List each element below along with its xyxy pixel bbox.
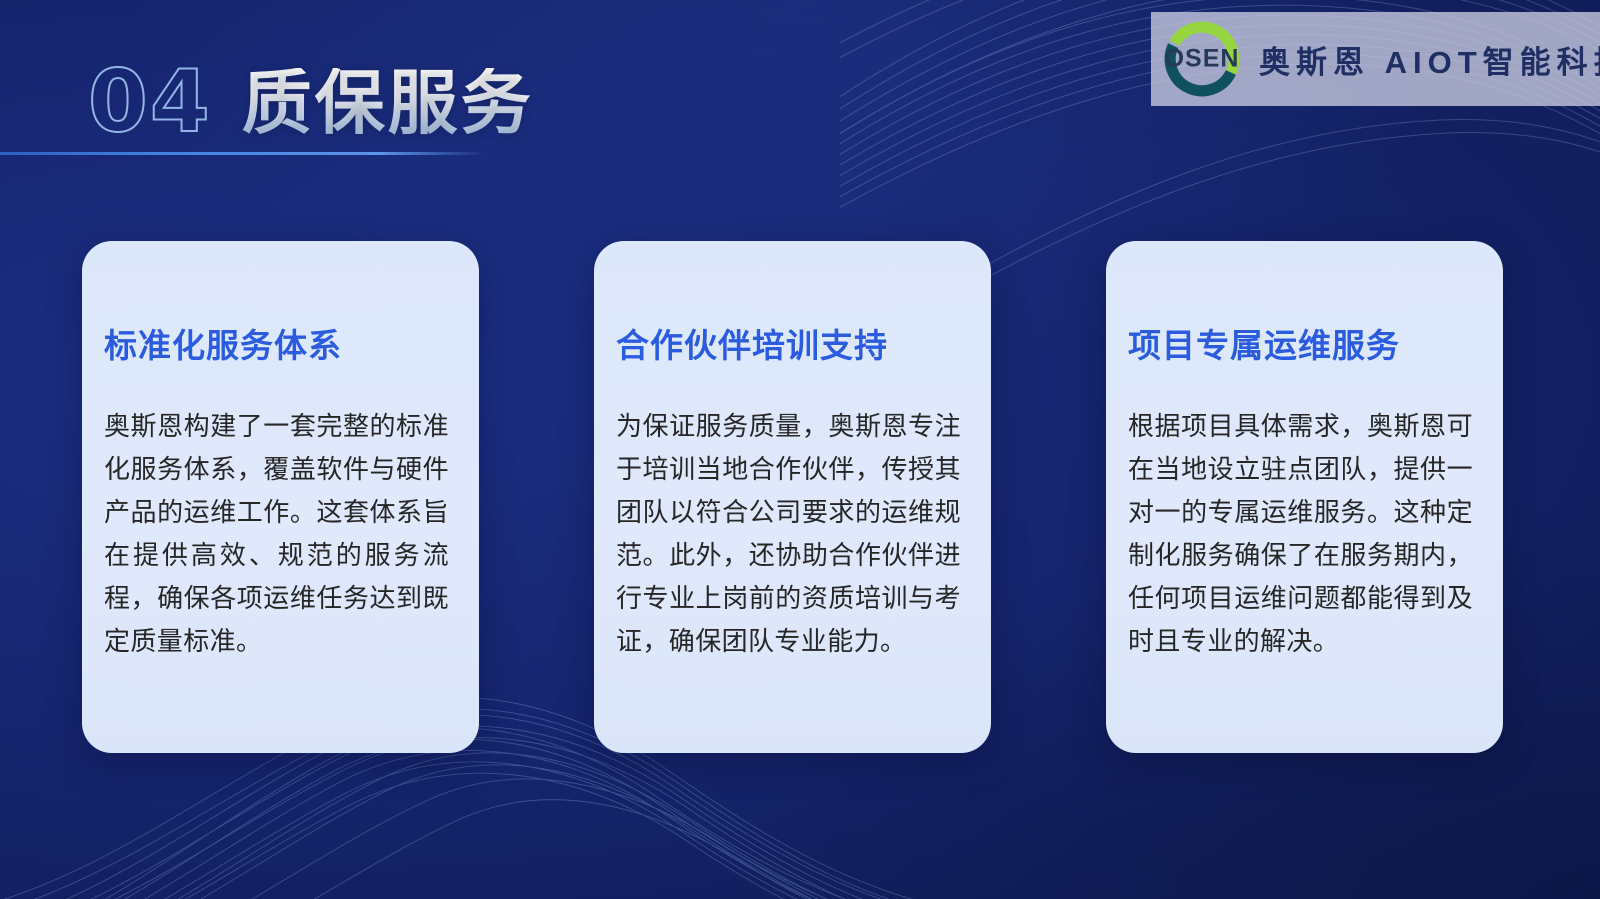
service-card[interactable]: 合作伙伴培训支持 为保证服务质量，奥斯恩专注于培训当地合作伙伴，传授其团队以符合… [594,241,991,753]
service-card-title: 标准化服务体系 [104,327,449,365]
osen-wordmark: OSEN [1165,45,1240,74]
service-card-body: 奥斯恩构建了一套完整的标准化服务体系，覆盖软件与硬件产品的运维工作。这套体系旨在… [104,405,449,663]
slide-header: 04 质保服务 [88,46,534,142]
section-number: 04 [88,63,212,142]
brand-name: 奥斯恩 AIOT智能科技 [1259,37,1600,82]
service-card-title: 项目专属运维服务 [1128,327,1473,365]
service-card-title: 合作伙伴培训支持 [616,327,961,365]
osen-ring-icon: OSEN [1159,16,1245,102]
service-card[interactable]: 项目专属运维服务 根据项目具体需求，奥斯恩可在当地设立驻点团队，提供一对一的专属… [1106,241,1503,753]
service-card-body: 根据项目具体需求，奥斯恩可在当地设立驻点团队，提供一对一的专属运维服务。这种定制… [1128,405,1473,663]
service-card-list: 标准化服务体系 奥斯恩构建了一套完整的标准化服务体系，覆盖软件与硬件产品的运维工… [82,241,1503,753]
page-title: 质保服务 [242,68,534,142]
service-card-body: 为保证服务质量，奥斯恩专注于培训当地合作伙伴，传授其团队以符合公司要求的运维规范… [616,405,961,663]
brand-logo: OSEN 奥斯恩 AIOT智能科技 [1151,12,1600,106]
slide-root: 04 质保服务 OSEN 奥斯恩 AIOT智能科技 标准化服务体系 奥斯恩构建了… [0,0,1600,899]
title-underline-rule [0,152,486,155]
service-card[interactable]: 标准化服务体系 奥斯恩构建了一套完整的标准化服务体系，覆盖软件与硬件产品的运维工… [82,241,479,753]
